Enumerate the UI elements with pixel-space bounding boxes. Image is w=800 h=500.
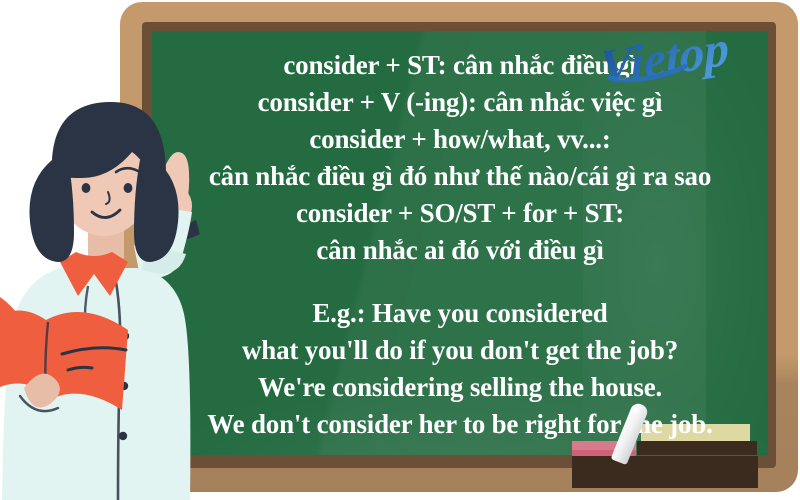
grammar-line-3: consider + how/what, vv...:: [309, 121, 610, 158]
chalk-ledge: [572, 456, 758, 488]
grammar-line-5: consider + SO/ST + for + ST:: [296, 195, 624, 232]
example-line-3: We're considering selling the house.: [258, 369, 662, 406]
screenshot-canvas: consider + ST: cân nhắc điều gì consider…: [0, 0, 800, 500]
grammar-line-4: cân nhắc điều gì đó như thế nào/cái gì r…: [209, 158, 711, 195]
grammar-line-1: consider + ST: cân nhắc điều gì: [283, 47, 636, 84]
example-line-1: E.g.: Have you considered: [312, 295, 607, 332]
teacher-illustration: [0, 56, 232, 500]
grammar-line-2: consider + V (-ing): cân nhắc việc gì: [258, 84, 663, 121]
chalkboard-text-block: consider + ST: cân nhắc điều gì consider…: [152, 31, 768, 455]
example-line-2: what you'll do if you don't get the job?: [242, 332, 678, 369]
grammar-line-6: cân nhắc ai đó với điều gì: [316, 232, 603, 269]
